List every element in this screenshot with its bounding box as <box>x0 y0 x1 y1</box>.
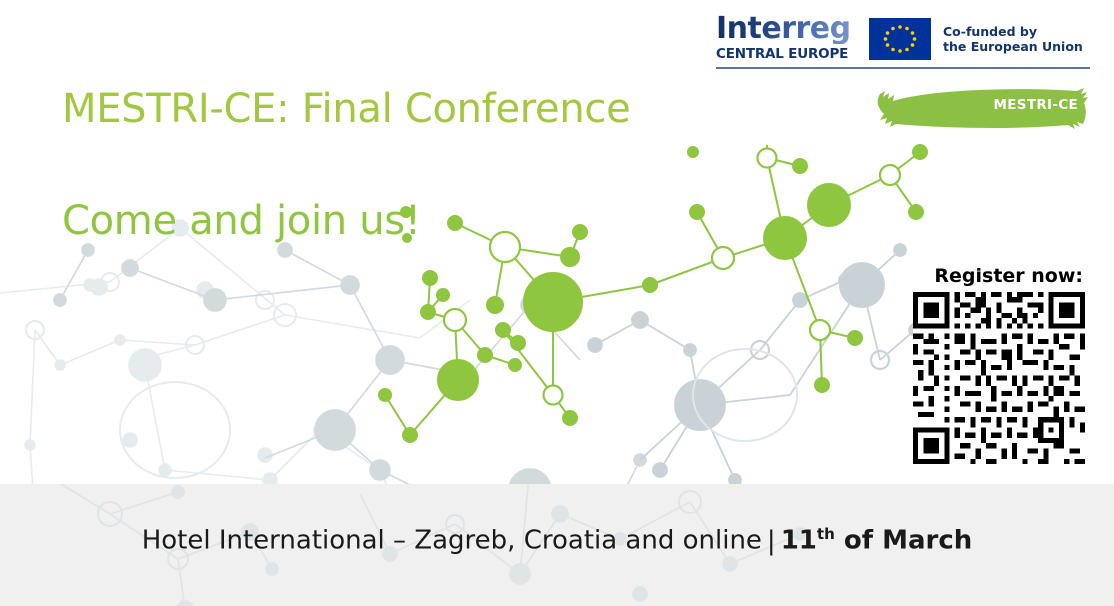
footer-date-rest: of March <box>835 526 972 556</box>
eu-funding-line-1: Co-funded by <box>943 24 1083 39</box>
qr-code-icon[interactable] <box>913 292 1085 464</box>
eu-funding-line-2: the European Union <box>943 39 1083 54</box>
page-subtitle: Come and join us! <box>62 198 421 244</box>
project-badge-label: MESTRI-CE <box>994 97 1078 113</box>
register-block: Register now: <box>905 265 1085 464</box>
header-divider <box>716 67 1090 69</box>
interreg-subline: CENTRAL EUROPE <box>716 46 851 62</box>
project-badge: MESTRI-CE <box>872 85 1092 130</box>
footer-venue: Hotel International – Zagreb, Croatia an… <box>142 526 762 556</box>
interreg-wordmark: Interreg <box>716 14 851 44</box>
eu-funding-text: Co-funded by the European Union <box>943 24 1083 54</box>
header-logo-bar: Interreg CENTRAL EUROPE <box>716 8 1090 70</box>
footer-date-number: 11 <box>781 526 817 556</box>
footer-separator: | <box>762 526 781 556</box>
page-title: MESTRI-CE: Final Conference <box>62 86 630 132</box>
footer-date-ordinal: th <box>817 525 835 543</box>
register-label: Register now: <box>905 265 1085 287</box>
footer-details: Hotel International – Zagreb, Croatia an… <box>0 525 1114 556</box>
conference-poster: Interreg CENTRAL EUROPE <box>0 0 1114 606</box>
eu-flag-icon <box>869 18 931 60</box>
interreg-logo: Interreg CENTRAL EUROPE <box>716 14 851 64</box>
